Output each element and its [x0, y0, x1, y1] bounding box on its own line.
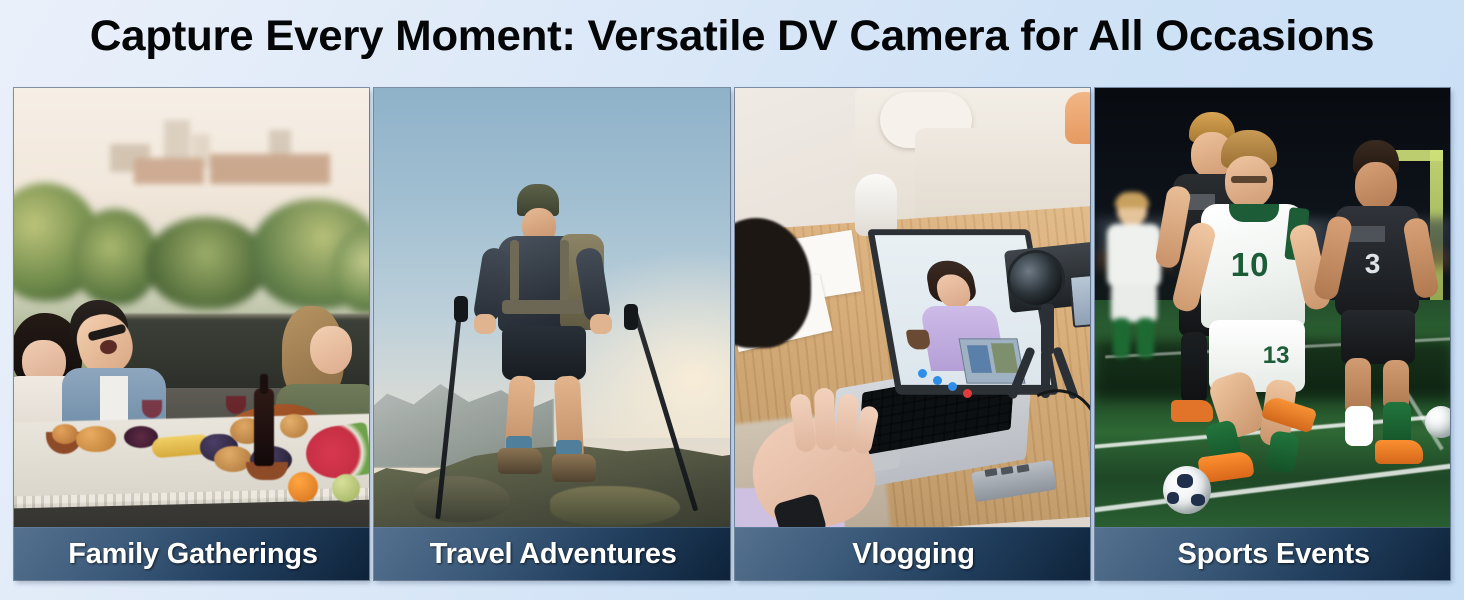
pear — [332, 474, 360, 502]
call-control-video[interactable] — [933, 376, 942, 385]
photo-sports-events: 10 13 3 — [1095, 88, 1450, 528]
panel-travel-adventures[interactable]: Travel Adventures — [374, 88, 729, 580]
panel-grid: Family Gatherings — [14, 88, 1450, 580]
caption-label: Sports Events — [1178, 538, 1370, 571]
tree-line — [14, 173, 369, 303]
plush-toy — [1065, 92, 1090, 144]
caption-bar: Travel Adventures — [374, 527, 729, 580]
hiking-boot-right — [552, 454, 596, 482]
panel-family-gatherings[interactable]: Family Gatherings — [14, 88, 369, 580]
page-title: Capture Every Moment: Versatile DV Camer… — [0, 12, 1464, 61]
hiker-shorts — [502, 326, 586, 380]
call-control-mic[interactable] — [918, 369, 927, 378]
orange — [288, 472, 318, 502]
shorts-number-13: 13 — [1263, 342, 1290, 370]
soccer-ball — [1163, 466, 1211, 514]
promo-banner: Capture Every Moment: Versatile DV Camer… — [0, 0, 1464, 600]
croissant — [76, 426, 116, 452]
wine-bottle — [254, 388, 274, 466]
tripod-column — [1041, 304, 1054, 354]
caption-label: Vlogging — [852, 538, 974, 571]
caption-bar: Family Gatherings — [14, 527, 369, 580]
call-control-share[interactable] — [948, 382, 957, 391]
jersey-number-10: 10 — [1231, 246, 1270, 284]
photo-travel-adventures — [374, 88, 729, 528]
player-defender-number-3: 3 — [1327, 140, 1437, 450]
caption-bar: Sports Events — [1095, 527, 1450, 580]
panel-vlogging[interactable]: Vlogging — [735, 88, 1090, 580]
caption-label: Family Gatherings — [68, 538, 318, 571]
caption-label: Travel Adventures — [430, 538, 677, 571]
player-background — [1103, 196, 1165, 366]
photo-family-gatherings — [14, 88, 369, 528]
panel-sports-events[interactable]: 10 13 3 — [1095, 88, 1450, 580]
caption-bar: Vlogging — [735, 527, 1090, 580]
smart-speaker — [855, 174, 897, 236]
hiking-boot-left — [498, 448, 542, 474]
call-control-end[interactable] — [963, 389, 972, 398]
jersey-number-3: 3 — [1365, 248, 1381, 280]
photo-vlogging — [735, 88, 1090, 528]
